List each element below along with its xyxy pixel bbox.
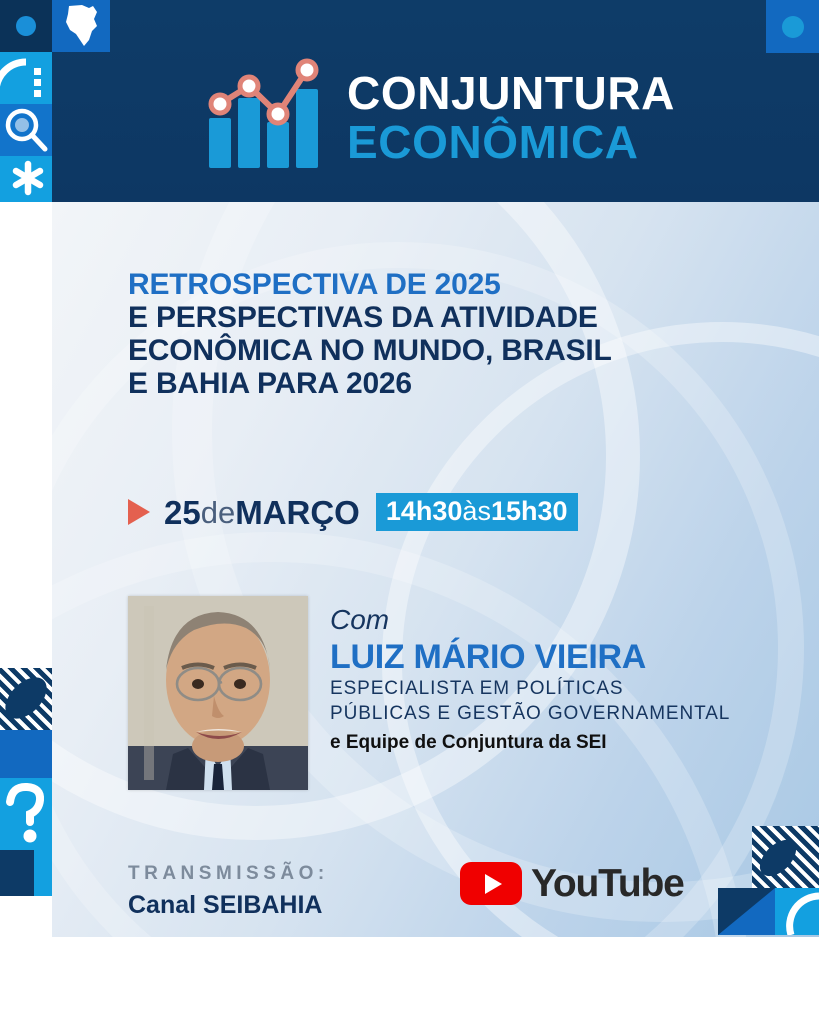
search-tile — [0, 104, 52, 156]
decor-navy-block-left — [0, 850, 34, 896]
poster-footer: /seibahia SEI SUPERINTENDÊNCIA DE ESTUDO… — [0, 937, 819, 1024]
broadcast-channel: Canal SEIBAHIA — [128, 889, 329, 921]
brand-logo-line1: CONJUNTURA — [347, 70, 675, 116]
arc-dots-tile — [0, 52, 52, 104]
bahia-map-tile — [52, 0, 110, 52]
decor-triangle-icon — [718, 888, 775, 935]
speaker-name: LUIZ MÁRIO VIEIRA — [330, 638, 800, 676]
brand-logo: CONJUNTURA ECONÔMICA — [205, 52, 675, 180]
decor-question-block-left — [0, 778, 52, 850]
speaker-role-line-2: PÚBLICAS E GESTÃO GOVERNAMENTAL — [330, 701, 800, 726]
speaker-with-label: Com — [330, 604, 800, 636]
decor-stripes-block-right — [752, 826, 819, 888]
speaker-photo — [128, 596, 308, 790]
poster-header: CONJUNTURA ECONÔMICA — [0, 0, 819, 202]
event-preposition: de — [201, 496, 235, 529]
event-time-badge: 14h30às15h30 — [376, 493, 578, 531]
portrait-image — [128, 596, 308, 790]
event-month: MARÇO — [235, 496, 360, 529]
youtube-logo[interactable]: YouTube — [460, 862, 684, 905]
title-line-2: E PERSPECTIVAS DA ATIVIDADE — [128, 301, 748, 334]
asterisk-icon — [0, 156, 52, 202]
event-day: 25 — [164, 496, 201, 529]
brand-logo-line2: ECONÔMICA — [347, 118, 675, 166]
page-title: RETROSPECTIVA DE 2025 E PERSPECTIVAS DA … — [128, 268, 748, 400]
title-line-4: E BAHIA PARA 2026 — [128, 367, 748, 400]
title-line-1: RETROSPECTIVA DE 2025 — [128, 268, 748, 301]
bahia-map-icon — [52, 0, 110, 52]
circle-icon — [16, 16, 36, 36]
event-time-end: 15h30 — [491, 496, 568, 526]
decor-arc-block-right — [775, 888, 819, 935]
asterisk-tile — [0, 156, 52, 202]
corner-dot-tile — [766, 0, 819, 53]
bar-line-chart-icon — [205, 56, 335, 171]
decor-stripes-block-left — [0, 668, 52, 730]
circle-icon — [782, 16, 804, 38]
question-mark-icon — [0, 778, 52, 850]
broadcast-label: TRANSMISSÃO: — [128, 862, 329, 886]
decor-blue-block-left — [0, 730, 52, 778]
speaker-team: e Equipe de Conjuntura da SEI — [330, 730, 800, 755]
play-triangle-icon — [128, 499, 150, 525]
decor-cyan-block-left — [34, 850, 52, 896]
decor-triangle-block-right — [718, 888, 775, 935]
play-triangle-icon — [485, 874, 502, 894]
decor-lens-icon — [0, 668, 52, 730]
decor-lens-icon — [752, 826, 819, 888]
magnifier-icon — [0, 104, 52, 156]
dot-tile — [0, 0, 52, 52]
poster-canvas: CONJUNTURA ECONÔMICA RETROSPECTIVA DE 20… — [0, 0, 819, 1024]
speaker-details: Com LUIZ MÁRIO VIEIRA ESPECIALISTA EM PO… — [330, 604, 800, 755]
youtube-wordmark: YouTube — [531, 864, 684, 904]
event-time-start: 14h30 — [386, 496, 463, 526]
broadcast-info: TRANSMISSÃO: Canal SEIBAHIA — [128, 862, 329, 921]
title-line-3: ECONÔMICA NO MUNDO, BRASIL — [128, 334, 748, 367]
speaker-role-line-1: ESPECIALISTA EM POLÍTICAS — [330, 676, 800, 701]
arc-dots-icon — [0, 52, 52, 104]
event-datetime: 25 de MARÇO 14h30às15h30 — [128, 492, 578, 532]
event-time-separator: às — [462, 496, 491, 526]
youtube-play-icon — [460, 862, 522, 905]
decor-arc-icon — [775, 888, 819, 935]
brand-logo-text: CONJUNTURA ECONÔMICA — [347, 70, 675, 166]
